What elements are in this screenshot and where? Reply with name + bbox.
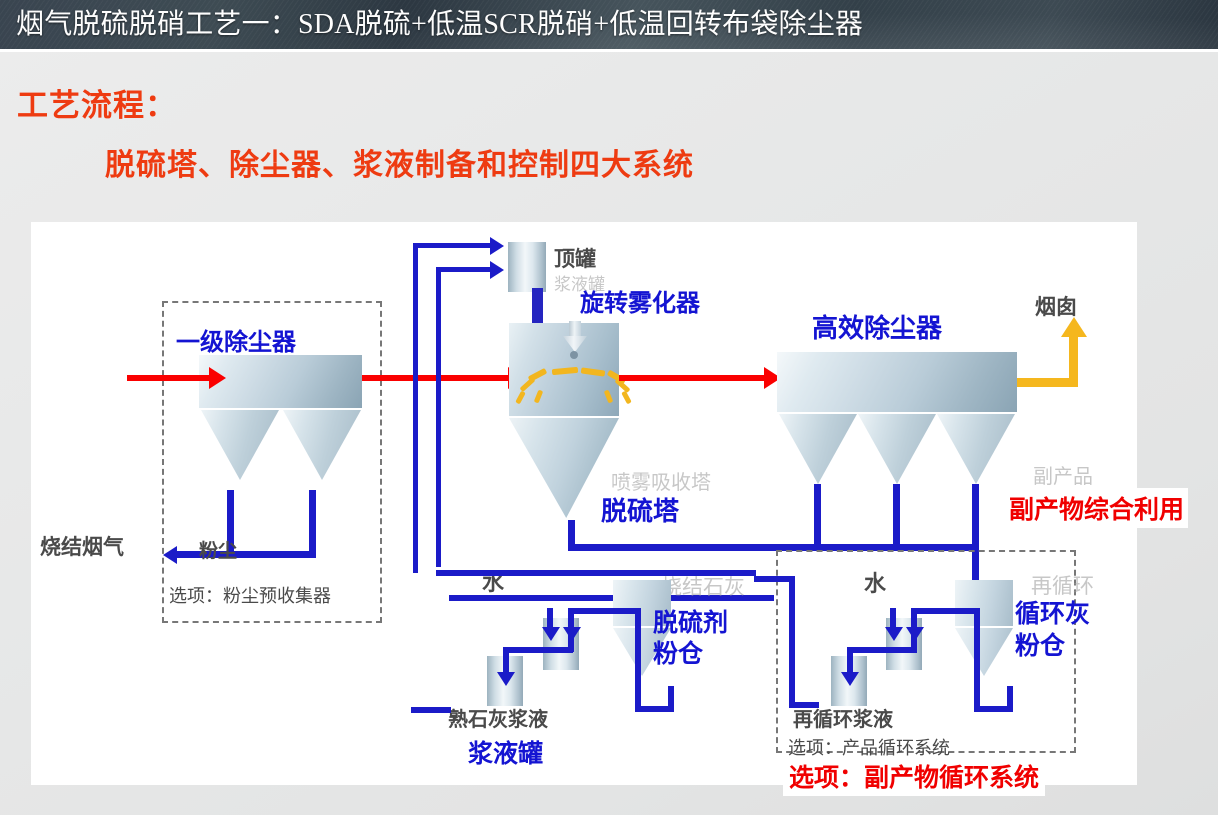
feed-line-to-top-tank-1-arrow-icon xyxy=(490,237,504,255)
high-eff-collector-hopper-1 xyxy=(779,414,857,484)
mixer-to-tank-riser xyxy=(568,608,574,652)
flue-gas-inlet-arrow-icon xyxy=(209,367,226,389)
high-eff-collector-hopper-2 xyxy=(858,414,936,484)
recycle-ash-silo-label-1: 循环灰 xyxy=(1015,594,1090,630)
gas-line-to-high-eff xyxy=(619,375,769,381)
section-subheading-four-systems: 脱硫塔、除尘器、浆液制备和控制四大系统 xyxy=(105,140,694,184)
byproduct-ghost-label: 副产品 xyxy=(1033,460,1093,489)
slurry-tank-label: 浆液罐 xyxy=(468,734,543,770)
high-eff-drop-pipe-1 xyxy=(814,484,821,549)
recycle-tank-outlet-riser xyxy=(789,576,795,708)
recycle-tank-feed-arrow-icon xyxy=(841,672,859,686)
recycle-silo-discharge-top-line xyxy=(914,608,980,614)
silo-discharge-top-line xyxy=(571,608,641,614)
recycle-tank-outlet-line xyxy=(754,576,794,582)
section-heading-process-flow: 工艺流程： xyxy=(17,80,177,125)
dust-outlet-line xyxy=(177,551,316,558)
page-title: 烟气脱硫脱硝工艺一：SDA脱硫+低温SCR脱硝+低温回转布袋除尘器 xyxy=(0,0,1218,50)
recycle-silo-discharge-drop xyxy=(1007,686,1013,712)
chimney-outlet-arrow-icon xyxy=(1061,317,1087,337)
slide-title-bar: 烟气脱硫脱硝工艺一：SDA脱硫+低温SCR脱硝+低温回转布袋除尘器 xyxy=(0,0,1218,52)
atomizer-stem xyxy=(569,321,581,338)
spray-dash xyxy=(621,391,632,405)
high-eff-collector-body xyxy=(777,352,1017,414)
desulfurization-tower-label: 脱硫塔 xyxy=(601,491,679,528)
tank-feed-drop xyxy=(503,647,509,675)
ash-header-left-riser xyxy=(568,520,575,547)
dust-drop-pipe-2 xyxy=(309,490,316,557)
recycle-mixer-to-tank-riser xyxy=(911,608,917,652)
chimney-duct-vertical xyxy=(1069,335,1078,387)
slide-root: 烟气脱硫脱硝工艺一：SDA脱硫+低温SCR脱硝+低温回转布袋除尘器 工艺流程： … xyxy=(0,0,1218,815)
recycle-tank-outlet-foot xyxy=(789,702,819,708)
byproduct-recycle-banner: 选项：副产物循环系统 xyxy=(783,756,1045,796)
top-tank-cylinder xyxy=(508,242,546,292)
atomizer-nozzle-dot xyxy=(570,351,578,359)
recycle-mixer-feed-arrow-1-icon xyxy=(885,627,903,641)
tank-feed-arrow-icon xyxy=(497,672,515,686)
silo-discharge-drop xyxy=(668,686,674,712)
high-efficiency-collector-title: 高效除尘器 xyxy=(812,308,942,345)
primary-collector-title: 一级除尘器 xyxy=(176,322,296,357)
mixer-feed-arrow-1-icon xyxy=(542,627,560,641)
feed-riser-1 xyxy=(413,243,418,573)
desulfurizer-silo-label-2: 粉仓 xyxy=(653,634,703,670)
sintering-flue-gas-label: 烧结烟气 xyxy=(40,531,124,561)
process-diagram-panel: 烧结烟气 一级除尘器 粉尘 选项：粉尘预收集器 顶罐 浆液罐 旋转雾化器 xyxy=(31,222,1137,785)
high-eff-drop-pipe-2 xyxy=(893,484,900,549)
dust-label: 粉尘 xyxy=(199,536,237,563)
recycle-water-label: 水 xyxy=(864,566,886,598)
feed-line-to-top-tank-2-arrow-icon xyxy=(490,261,504,279)
recycle-ash-silo-label-2: 粉仓 xyxy=(1015,626,1065,662)
byproduct-utilization-label: 副产物综合利用 xyxy=(1005,488,1188,528)
top-tank-label: 顶罐 xyxy=(554,243,596,273)
dust-outlet-arrow-icon xyxy=(163,546,177,564)
feed-line-to-top-tank-1 xyxy=(413,243,493,248)
rotary-atomizer-label: 旋转雾化器 xyxy=(580,283,700,318)
recycle-ash-silo-body xyxy=(955,580,1013,628)
high-eff-collector-hopper-3 xyxy=(937,414,1015,484)
recycle-mixer-to-tank-line xyxy=(847,647,917,653)
silo-discharge-riser xyxy=(635,608,641,712)
recycle-tank-feed-drop xyxy=(847,647,853,675)
recycle-silo-discharge-riser xyxy=(974,608,980,712)
dust-precollector-option-label: 选项：粉尘预收集器 xyxy=(169,582,331,608)
feed-riser-2 xyxy=(436,267,441,567)
feed-line-to-top-tank-2 xyxy=(436,267,493,272)
mixer-to-tank-line xyxy=(503,647,573,653)
slurry-tank-outlet-line xyxy=(411,707,451,713)
recycle-return-line xyxy=(436,570,756,576)
slaked-lime-slurry-label: 熟石灰浆液 xyxy=(448,703,548,732)
flue-gas-inlet-line xyxy=(127,375,212,381)
